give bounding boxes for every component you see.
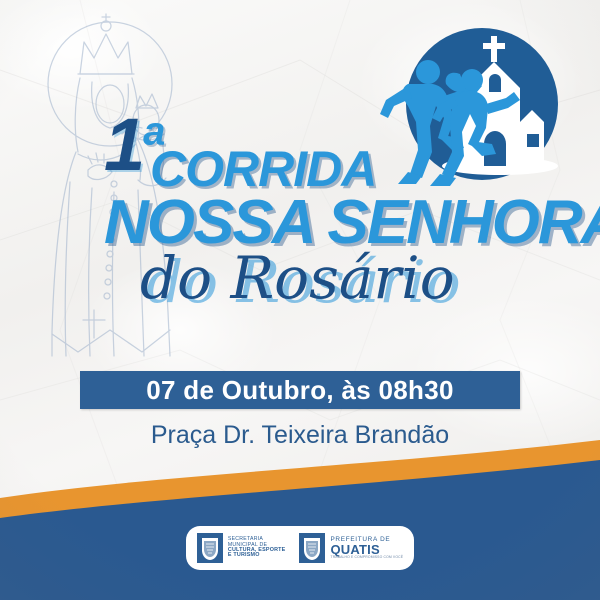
event-poster: 1a CORRIDA NOSSA SENHORA do Rosário do R… <box>0 0 600 600</box>
paper-vignette <box>0 0 600 600</box>
